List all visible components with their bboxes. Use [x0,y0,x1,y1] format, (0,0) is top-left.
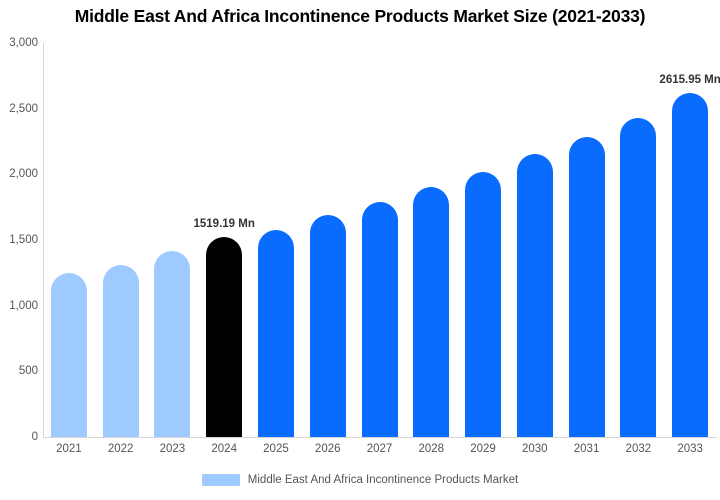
y-axis-tick-label: 2,500 [0,103,38,115]
legend-swatch-icon [202,474,240,486]
x-axis-tick-label-2028: 2028 [418,443,444,455]
bar-2024[interactable] [206,237,242,437]
y-axis-tick-label: 2,000 [0,168,38,180]
bar-2029[interactable] [465,172,501,437]
x-axis-tick-label-2030: 2030 [522,443,548,455]
bar-2028[interactable] [413,187,449,437]
bars-layer: 1519.19 Mn2615.95 Mn [43,43,716,437]
bar-2033[interactable] [672,93,708,437]
bar-2027[interactable] [362,202,398,437]
bar-2023[interactable] [154,251,190,437]
bar-2031[interactable] [569,137,605,437]
y-axis-tick-label: 1,000 [0,300,38,312]
y-axis-tick-label: 500 [0,365,38,377]
chart-container: Middle East And Africa Incontinence Prod… [0,0,720,500]
y-axis-tick-label: 3,000 [0,37,38,49]
bar-2032[interactable] [620,118,656,437]
chart-title: Middle East And Africa Incontinence Prod… [0,6,720,27]
x-axis-tick-label-2032: 2032 [626,443,652,455]
x-axis-tick-label-2023: 2023 [160,443,186,455]
y-axis: 05001,0001,5002,0002,5003,000 [0,0,38,500]
x-axis-tick-label-2029: 2029 [470,443,496,455]
bar-value-label-2033: 2615.95 Mn [659,74,720,86]
bar-2030[interactable] [517,154,553,437]
bar-2026[interactable] [310,215,346,437]
y-axis-tick-label: 1,500 [0,234,38,246]
x-axis-tick-label-2031: 2031 [574,443,600,455]
x-axis-tick-label-2027: 2027 [367,443,393,455]
bar-2022[interactable] [103,265,139,437]
chart-legend: Middle East And Africa Incontinence Prod… [0,474,720,486]
y-axis-tick-label: 0 [0,431,38,443]
x-axis-tick-label-2021: 2021 [56,443,82,455]
x-axis: 2021202220232024202520262027202820292030… [43,443,716,463]
bar-value-label-2024: 1519.19 Mn [194,218,255,230]
x-axis-tick-label-2033: 2033 [677,443,703,455]
x-axis-tick-label-2025: 2025 [263,443,289,455]
x-axis-tick-label-2024: 2024 [211,443,237,455]
bar-2025[interactable] [258,230,294,438]
x-axis-tick-label-2022: 2022 [108,443,134,455]
bar-2021[interactable] [51,273,87,437]
x-axis-tick-label-2026: 2026 [315,443,341,455]
legend-label: Middle East And Africa Incontinence Prod… [248,474,518,486]
